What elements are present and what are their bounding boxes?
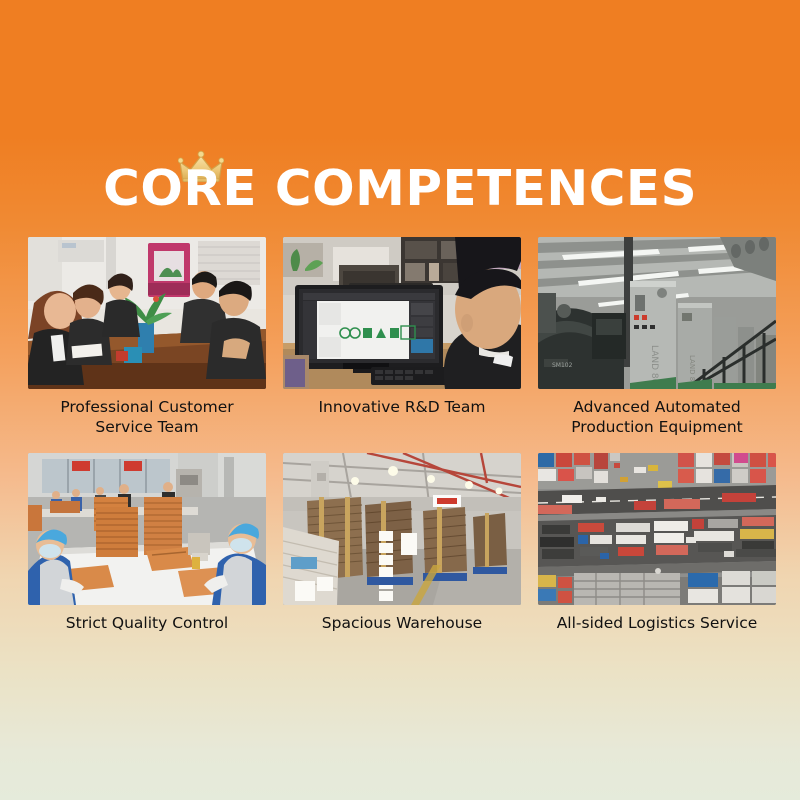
- card-caption: Strict Quality Control: [28, 614, 266, 634]
- quality-inspection-photo: [28, 453, 266, 605]
- card-caption: Professional Customer Service Team: [28, 398, 266, 438]
- competence-card-customer-service[interactable]: Professional Customer Service Team: [28, 237, 266, 438]
- card-caption: Advanced Automated Production Equipment: [538, 398, 776, 438]
- page-title: CORE COMPETENCES: [103, 164, 697, 213]
- card-caption: All-sided Logistics Service: [538, 614, 776, 634]
- competence-card-logistics[interactable]: All-sided Logistics Service: [538, 453, 776, 634]
- competence-card-production-equipment[interactable]: LAND 800 LAND 800 SM102: [538, 237, 776, 438]
- warehouse-photo: [283, 453, 521, 605]
- svg-text:SM102: SM102: [552, 362, 573, 369]
- competence-card-quality-control[interactable]: Strict Quality Control: [28, 453, 266, 634]
- competence-grid: Professional Customer Service Team: [28, 237, 772, 633]
- card-caption: Innovative R&D Team: [283, 398, 521, 418]
- competence-card-rd-team[interactable]: Innovative R&D Team: [283, 237, 521, 438]
- core-competences-banner: CORE COMPETENCES: [0, 0, 800, 800]
- card-caption: Spacious Warehouse: [283, 614, 521, 634]
- meeting-room-photo: [28, 237, 266, 389]
- designer-at-computer-photo: [283, 237, 521, 389]
- printing-press-photo: LAND 800 LAND 800 SM102: [538, 237, 776, 389]
- competence-card-warehouse[interactable]: Spacious Warehouse: [283, 453, 521, 634]
- title-block: CORE COMPETENCES: [0, 150, 800, 213]
- logistics-aerial-photo: [538, 453, 776, 605]
